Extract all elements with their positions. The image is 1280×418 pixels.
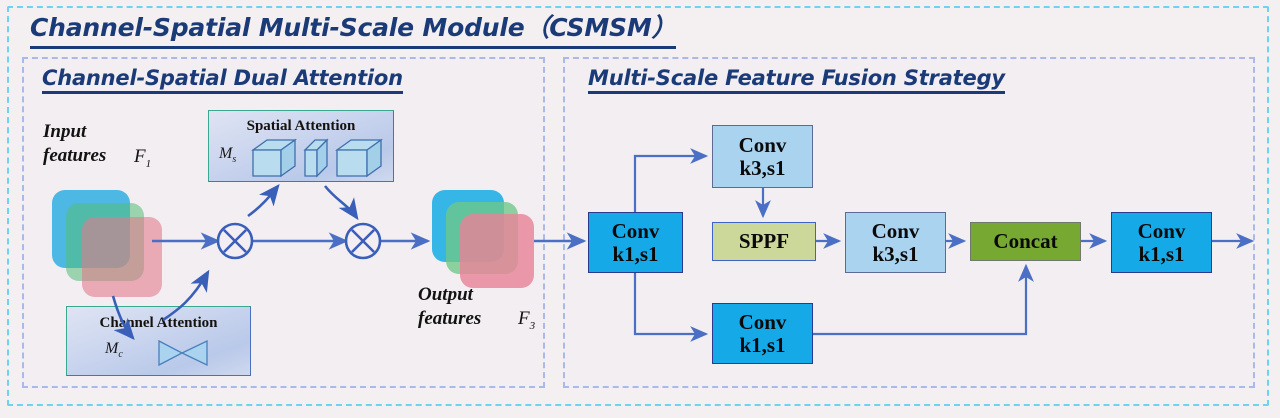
block-conv-top-line1: Conv xyxy=(739,133,787,157)
feature-sheet-pink xyxy=(82,217,162,297)
block-conv-out-line1: Conv xyxy=(1138,219,1186,243)
bowtie-icon xyxy=(157,339,209,367)
channel-symbol-index: c xyxy=(118,349,122,360)
block-conv-out-line2: k1,s1 xyxy=(1138,242,1184,266)
block-conv-mid-line1: Conv xyxy=(872,219,920,243)
input-features-label: Input features xyxy=(43,120,106,168)
block-conv-top[interactable]: Convk3,s1 xyxy=(712,125,813,188)
output-feature-stack xyxy=(432,190,552,290)
block-conv-out[interactable]: Convk1,s1 xyxy=(1111,212,1212,273)
output-features-label: Output features xyxy=(418,283,481,331)
block-conv-bot[interactable]: Convk1,s1 xyxy=(712,303,813,364)
cubes-icon xyxy=(251,137,387,179)
output-features-line2: features xyxy=(418,308,481,329)
block-sppf[interactable]: SPPF xyxy=(712,222,816,261)
panel-right-title: Multi-Scale Feature Fusion Strategy xyxy=(588,66,1005,94)
output-symbol-index: 3 xyxy=(530,320,536,332)
spatial-symbol-base: M xyxy=(219,145,232,162)
channel-symbol-base: M xyxy=(105,340,118,357)
module-title: Channel-Spatial Multi-Scale Module（CSMSM… xyxy=(30,8,676,49)
block-conv-in-line1: Conv xyxy=(612,219,660,243)
block-conv-in-line2: k1,s1 xyxy=(612,242,658,266)
block-conv-mid[interactable]: Convk3,s1 xyxy=(845,212,946,273)
input-symbol-base: F xyxy=(134,146,146,167)
input-feature-stack xyxy=(52,190,172,300)
block-conv-bot-line1: Conv xyxy=(739,310,787,334)
channel-attention-box[interactable]: Channel Attention Mc xyxy=(66,306,251,376)
output-features-line1: Output xyxy=(418,284,473,305)
diagram-canvas: Channel-Spatial Multi-Scale Module（CSMSM… xyxy=(0,0,1280,418)
spatial-attention-symbol: Ms xyxy=(219,145,236,165)
input-symbol-index: 1 xyxy=(146,158,152,170)
block-conv-top-line2: k3,s1 xyxy=(739,156,785,180)
output-symbol-base: F xyxy=(518,308,530,329)
input-features-line2: features xyxy=(43,145,106,166)
block-conv-bot-line2: k1,s1 xyxy=(739,333,785,357)
block-conv-mid-line2: k3,s1 xyxy=(872,242,918,266)
output-features-symbol: F3 xyxy=(518,308,535,332)
output-sheet-pink xyxy=(460,214,534,288)
spatial-symbol-index: s xyxy=(232,154,236,165)
channel-attention-title: Channel Attention xyxy=(67,315,250,332)
input-features-symbol: F1 xyxy=(134,146,151,170)
panel-left-title: Channel-Spatial Dual Attention xyxy=(42,66,403,94)
block-concat-label: Concat xyxy=(993,230,1057,252)
block-conv-in[interactable]: Convk1,s1 xyxy=(588,212,683,273)
block-concat[interactable]: Concat xyxy=(970,222,1081,261)
input-features-line1: Input xyxy=(43,121,86,142)
spatial-attention-title: Spatial Attention xyxy=(209,118,393,135)
block-sppf-label: SPPF xyxy=(739,230,789,252)
spatial-attention-box[interactable]: Spatial Attention Ms xyxy=(208,110,394,182)
channel-attention-symbol: Mc xyxy=(105,340,123,360)
